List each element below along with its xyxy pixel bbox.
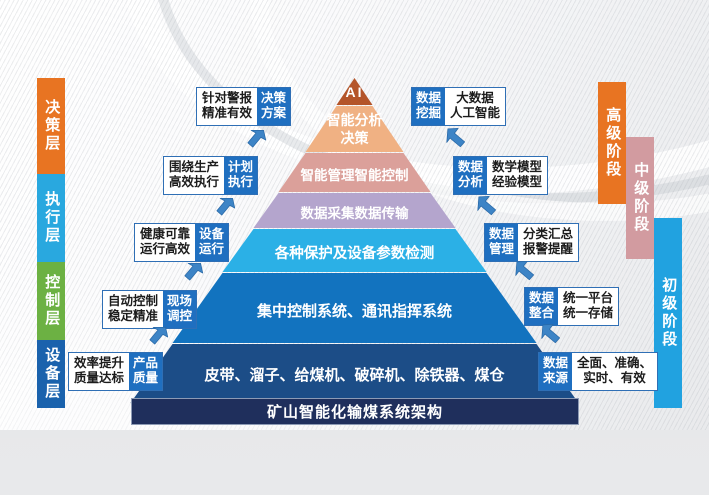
callout-data-mining-tag: 数据 挖掘 [412,88,445,125]
arrow-down-left-3 [180,259,206,285]
arrow-down-left-2 [212,194,238,220]
callout-data-source[interactable]: 数据 来源 全面、准确、 实时、有效 [538,352,658,391]
callout-tag-2: 挖掘 [416,106,441,121]
callout-line-1: 健康可靠 [140,227,190,242]
pyramid [0,438,709,495]
callout-data-analysis-text: 数学模型 经验模型 [487,157,547,194]
callout-equipment-operation[interactable]: 健康可靠 运行高效 设备 运行 [134,223,229,262]
arrow-up-left-3 [512,257,538,283]
callout-tag-2: 整合 [529,306,554,321]
callout-tag-1: 现场 [167,294,192,309]
pyramid-level-protection [223,229,487,272]
diagram-content: 决策层 执行层 控制层 设备层 高级阶段 中级阶段 初级阶段 [0,438,709,495]
callout-line-2: 实时、有效 [577,371,652,386]
callout-line-2: 精准有效 [202,106,252,121]
callout-tag-2: 方案 [261,106,286,121]
callout-product-quality-text: 效率提升 质量达标 [69,353,129,390]
base-title-bar: 矿山智能化输煤系统架构 [131,398,579,425]
arrow-up-left-2 [474,192,500,218]
callout-line-2: 高效执行 [169,175,219,190]
callout-tag-1: 决策 [261,91,286,106]
callout-data-integration-text: 统一平台 统一存储 [558,288,618,325]
callout-tag-2: 管理 [489,242,514,257]
arrow-down-left-1 [243,126,269,152]
callout-tag-2: 来源 [543,371,568,386]
pyramid-level-ai [337,78,373,105]
arrow-up-left-4 [538,320,564,346]
callout-tag-1: 产品 [133,356,158,371]
callout-tag-1: 数据 [489,227,514,242]
callout-line-1: 全面、准确、 [577,356,652,371]
callout-tag-2: 分析 [458,175,483,190]
callout-plan-execution-tag: 计划 执行 [224,157,257,194]
callout-equipment-operation-text: 健康可靠 运行高效 [135,224,195,261]
pyramid-level-intelligent-analysis [306,106,404,152]
callout-data-management-tag: 数据 管理 [485,224,518,261]
callout-data-management[interactable]: 数据 管理 分类汇总 报警提醒 [484,223,579,262]
callout-tag-1: 计划 [228,160,253,175]
callout-line-2: 经验模型 [492,175,542,190]
callout-product-quality-tag: 产品 质量 [129,353,162,390]
callout-data-analysis-tag: 数据 分析 [454,157,487,194]
callout-data-mining-text: 大数据 人工智能 [445,88,505,125]
pyramid-level-intelligent-management [279,153,431,192]
callout-data-source-tag: 数据 来源 [539,353,572,390]
callout-data-management-text: 分类汇总 报警提醒 [518,224,578,261]
callout-line-2: 质量达标 [74,371,124,386]
callout-data-source-text: 全面、准确、 实时、有效 [572,353,657,390]
diagram-canvas: 决策层 执行层 控制层 设备层 高级阶段 中级阶段 初级阶段 [0,0,709,495]
diagram-content: 决策层 执行层 控制层 设备层 高级阶段 中级阶段 初级阶段 [0,0,709,438]
callout-tag-2: 质量 [133,371,158,386]
callout-plan-execution-text: 围绕生产 高效执行 [164,157,224,194]
callout-tag-1: 数据 [529,291,554,306]
callout-decision-plan-text: 针对警报 精准有效 [197,88,257,125]
arrow-up-left-1 [443,124,469,150]
callout-line-1: 分类汇总 [523,227,573,242]
callout-tag-1: 设备 [199,227,224,242]
callout-data-analysis[interactable]: 数据 分析 数学模型 经验模型 [453,156,548,195]
callout-line-2: 统一存储 [563,306,613,321]
arrow-down-left-4 [145,323,171,349]
callout-data-mining[interactable]: 数据 挖掘 大数据 人工智能 [411,87,506,126]
callout-line-2: 运行高效 [140,242,190,257]
callout-tag-1: 数据 [416,91,441,106]
base-title-label: 矿山智能化输煤系统架构 [267,401,443,422]
pyramid-level-central-control [173,273,537,343]
callout-line-1: 效率提升 [74,356,124,371]
pyramid-level-data-collection [254,193,456,228]
callout-line-2: 稳定精准 [108,309,158,324]
callout-line-2: 人工智能 [450,106,500,121]
callout-line-1: 大数据 [450,91,500,106]
callout-tag-2: 运行 [199,242,224,257]
callout-decision-plan[interactable]: 针对警报 精准有效 决策 方案 [196,87,291,126]
callout-plan-execution[interactable]: 围绕生产 高效执行 计划 执行 [163,156,258,195]
callout-line-1: 统一平台 [563,291,613,306]
callout-line-1: 自动控制 [108,294,158,309]
callout-tag-2: 执行 [228,175,253,190]
callout-line-2: 报警提醒 [523,242,573,257]
callout-tag-1: 数据 [543,356,568,371]
callout-tag-2: 调控 [167,309,192,324]
callout-tag-1: 数据 [458,160,483,175]
pyramid-level-equipment [131,344,579,403]
callout-product-quality[interactable]: 效率提升 质量达标 产品 质量 [68,352,163,391]
callout-line-1: 数学模型 [492,160,542,175]
reflection: 决策层 执行层 控制层 设备层 高级阶段 中级阶段 初级阶段 [0,438,709,495]
callout-line-1: 围绕生产 [169,160,219,175]
callout-decision-plan-tag: 决策 方案 [257,88,290,125]
callout-equipment-operation-tag: 设备 运行 [195,224,228,261]
callout-line-1: 针对警报 [202,91,252,106]
